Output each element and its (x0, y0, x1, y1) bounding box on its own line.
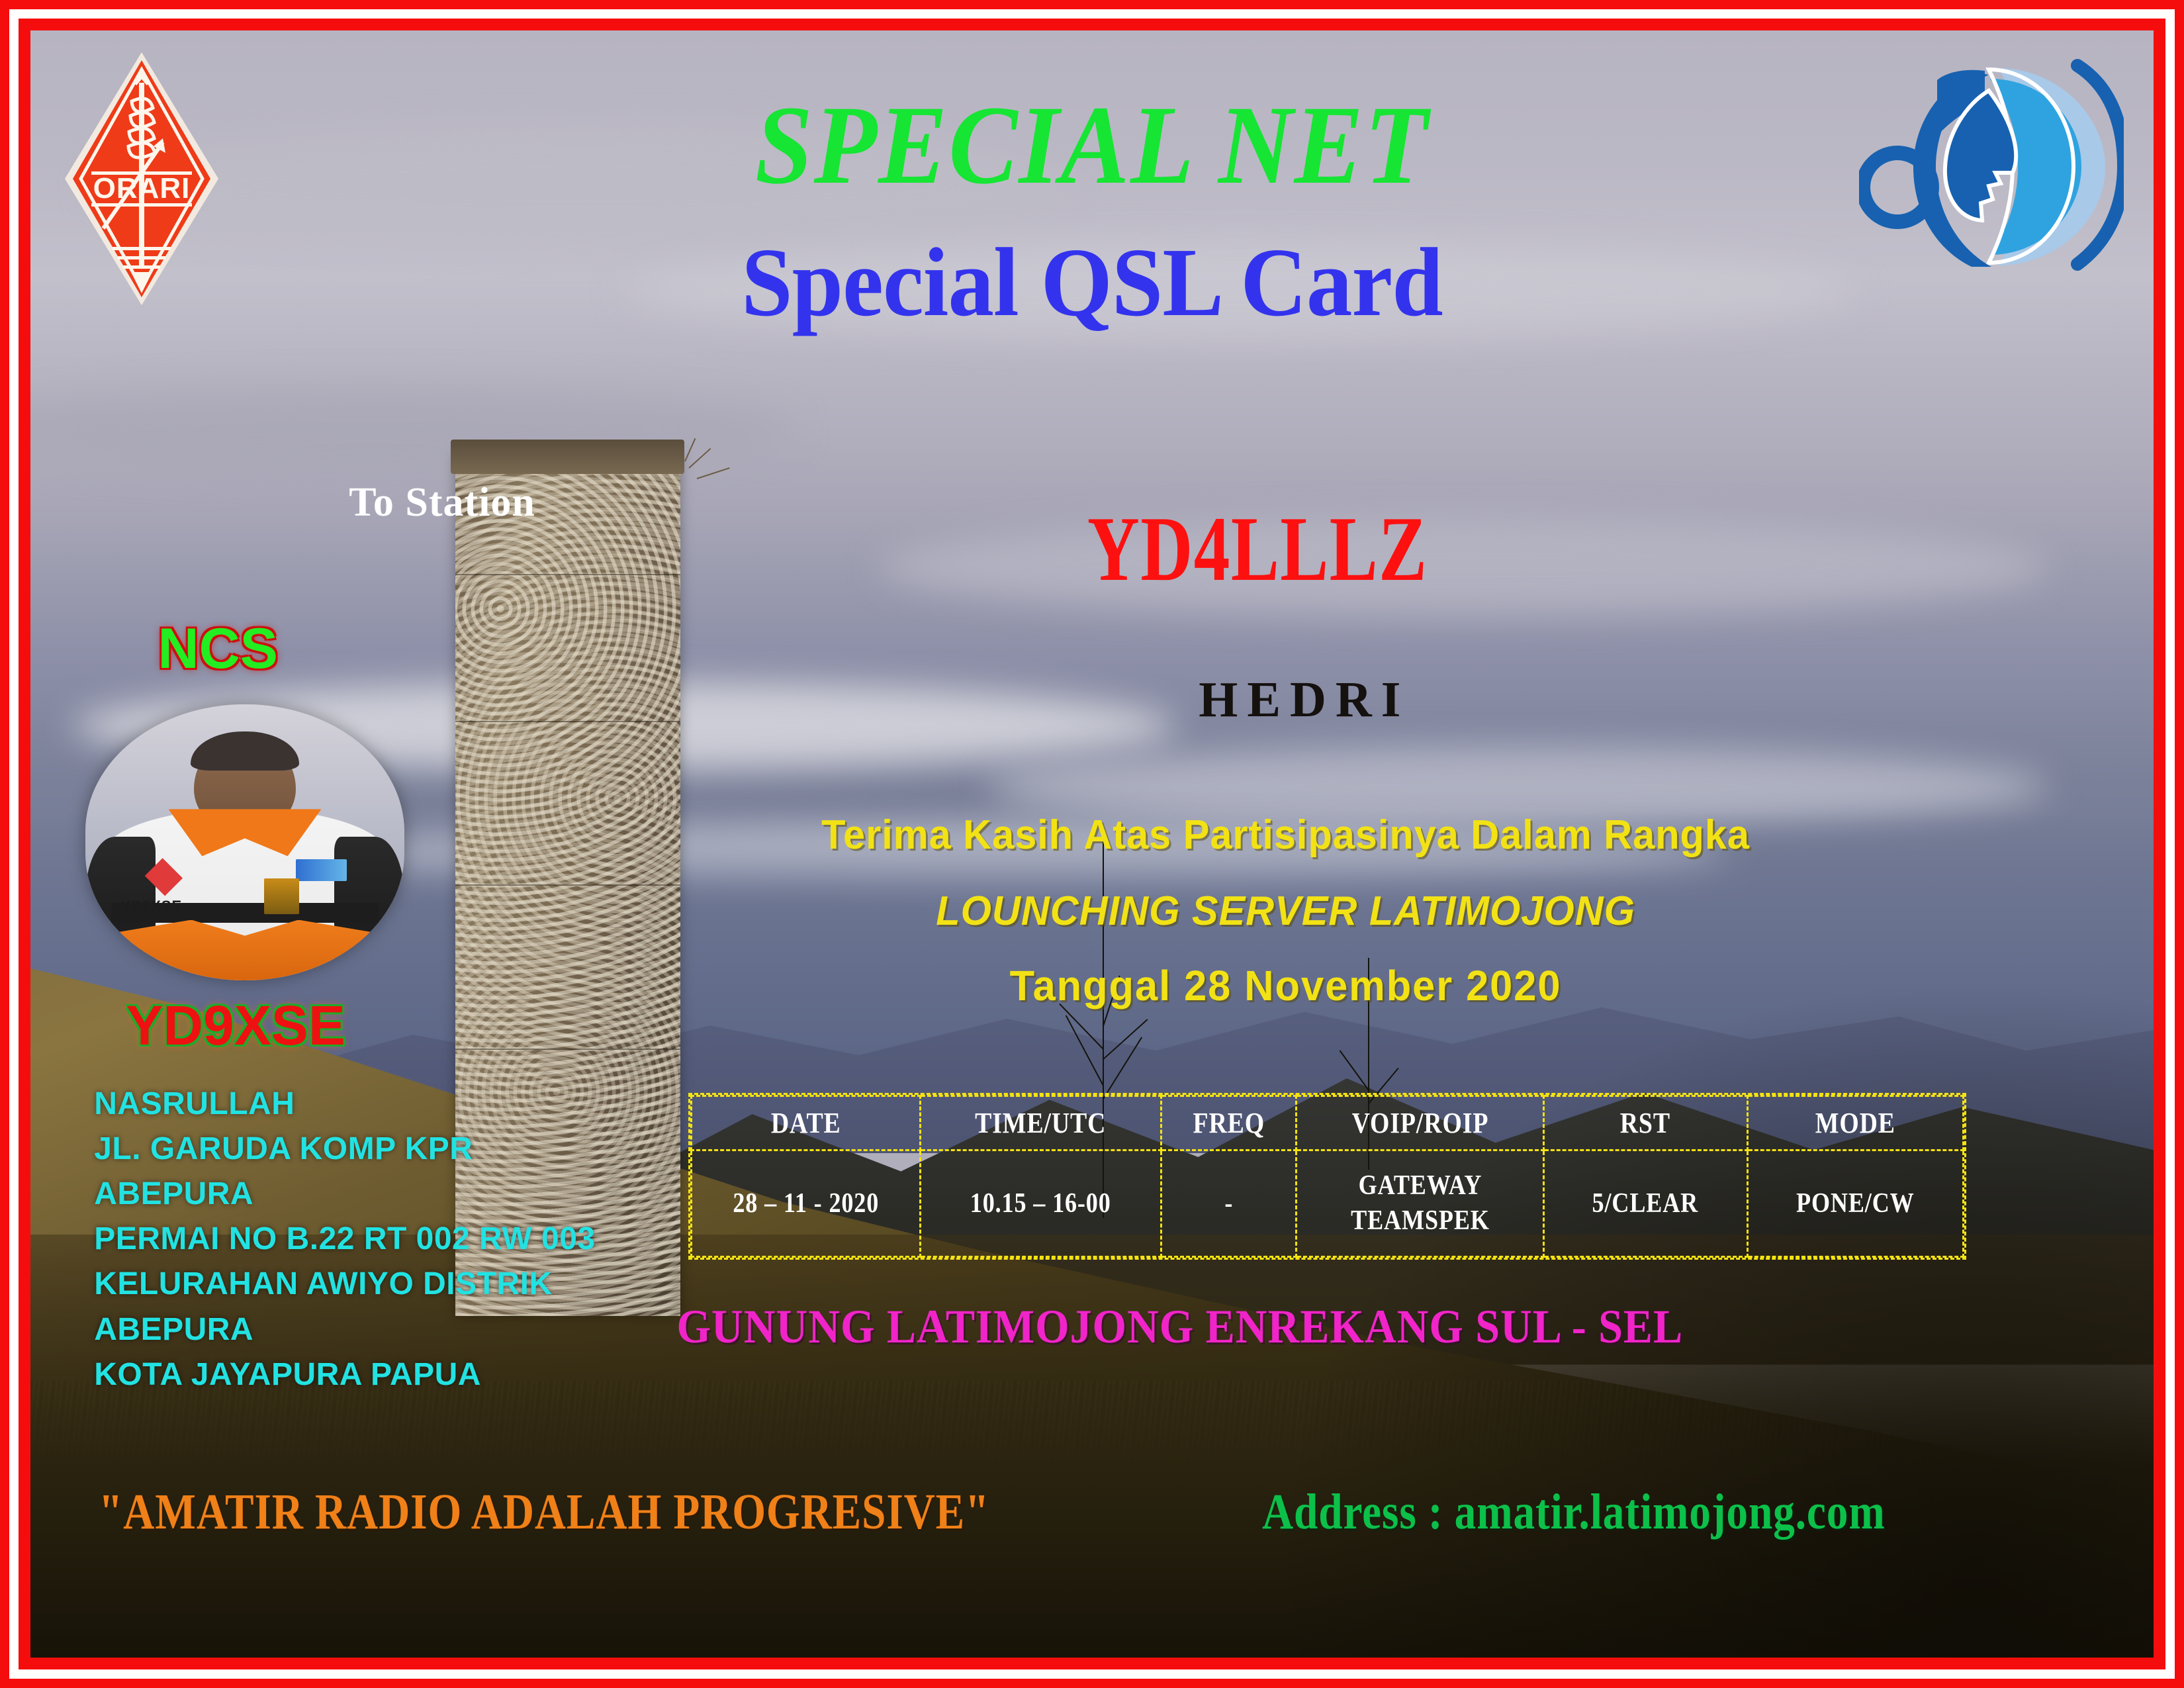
column-header-voip: VOIP/ROIP (1314, 1096, 1527, 1150)
table-header-row: DATE TIME/UTC FREQ VOIP/ROIP RST MODE (692, 1096, 1964, 1150)
website-address: Address : amatir.latimojong.com (1262, 1483, 1886, 1541)
cell-rst: 5/CLEAR (1558, 1150, 1733, 1256)
photo-shirt-callsign: YD9XSE (120, 898, 182, 915)
address-line: KOTA JAYAPURA PAPUA (94, 1352, 595, 1397)
ncs-label: NCS (158, 616, 278, 682)
qsl-card-photo-background: ORARI (30, 30, 2154, 1658)
motto-text: "AMATIR RADIO ADALAH PROGRESIVE" (99, 1483, 989, 1541)
cell-voip: GATEWAY TEAMSPEK (1314, 1150, 1527, 1256)
table-row: 28 – 11 - 2020 10.15 – 16-00 - GATEWAY T… (692, 1150, 1964, 1256)
cell-freq: - (1171, 1150, 1287, 1256)
cell-mode: PONE/CW (1762, 1150, 1948, 1256)
qso-log-table: DATE TIME/UTC FREQ VOIP/ROIP RST MODE 28… (688, 1093, 1966, 1260)
cell-time: 10.15 – 16-00 (937, 1150, 1144, 1256)
qsl-card-white-gap: ORARI (9, 9, 2175, 1679)
photo-shirt-patch-right (296, 859, 347, 881)
column-header-rst: RST (1558, 1096, 1733, 1150)
cell-voip-line2: TEAMSPEK (1315, 1203, 1525, 1239)
mountain-location-line: GUNUNG LATIMOJONG ENREKANG SUL - SEL (115, 1299, 2068, 1354)
column-header-mode: MODE (1762, 1096, 1948, 1150)
column-header-time: TIME/UTC (937, 1096, 1144, 1150)
cell-date: 28 – 11 - 2020 (707, 1150, 904, 1256)
column-header-date: DATE (707, 1096, 904, 1150)
ncs-operator-photo: YD9XSE (85, 704, 404, 981)
page-title-special-net: SPECIAL NET (115, 89, 2068, 201)
ncs-callsign: YD9XSE (126, 994, 345, 1058)
qsl-card-outer-border: ORARI (0, 0, 2184, 1688)
cell-voip-line1: GATEWAY (1315, 1168, 1525, 1203)
address-line: NASRULLAH (94, 1082, 595, 1127)
column-header-freq: FREQ (1171, 1096, 1287, 1150)
recipient-callsign: YD4LLLZ (264, 496, 1920, 602)
qsl-card-inner-border: ORARI (19, 19, 2165, 1669)
photo-id-badge (264, 878, 299, 914)
address-line: PERMAI NO B.22 RT 002 RW 003 (94, 1217, 595, 1262)
address-line: ABEPURA (94, 1172, 595, 1217)
address-line: JL. GARUDA KOMP KPR (94, 1127, 595, 1172)
page-subtitle-qsl-card: Special QSL Card (94, 234, 2090, 332)
